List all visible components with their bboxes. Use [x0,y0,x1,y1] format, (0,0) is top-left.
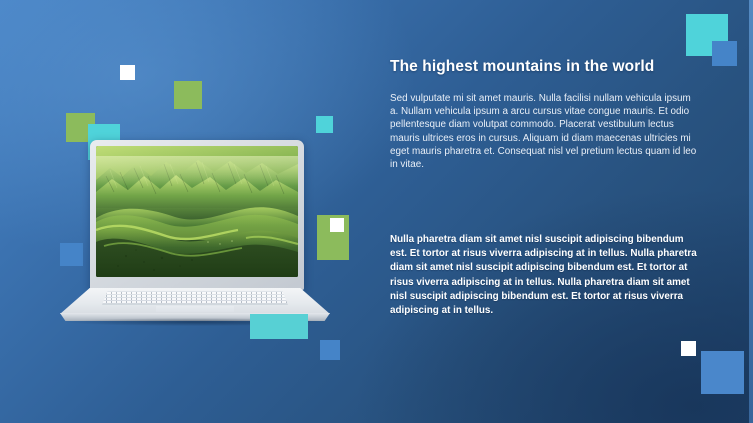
laptop-illustration [60,140,330,335]
mountain-landscape-image [96,146,298,277]
square-white-bottom-right [681,341,696,356]
laptop-lid [90,140,304,290]
square-blue-top-right [712,41,737,66]
laptop-keyboard [102,291,288,305]
highlight-text-block: Nulla pharetra diam sit amet nisl suscip… [390,233,702,318]
highlight-paragraph: Nulla pharetra diam sit amet nisl suscip… [390,233,702,318]
square-white-top-left [120,65,135,80]
square-cyan-small-mid [316,116,333,133]
square-cyan-bottom [250,314,308,339]
laptop-touchpad [156,306,234,312]
square-blue-bottom-right [701,351,744,394]
body-paragraph: Sed vulputate mi sit amet mauris. Nulla … [390,92,700,171]
square-white-mid [330,218,344,232]
text-column: The highest mountains in the world Sed v… [390,58,700,171]
square-green-top [174,81,202,109]
presentation-slide: The highest mountains in the world Sed v… [0,0,753,423]
page-title: The highest mountains in the world [390,58,700,76]
laptop-screen [96,146,298,277]
square-blue-bottom [320,340,340,360]
right-edge-strip [749,0,753,423]
